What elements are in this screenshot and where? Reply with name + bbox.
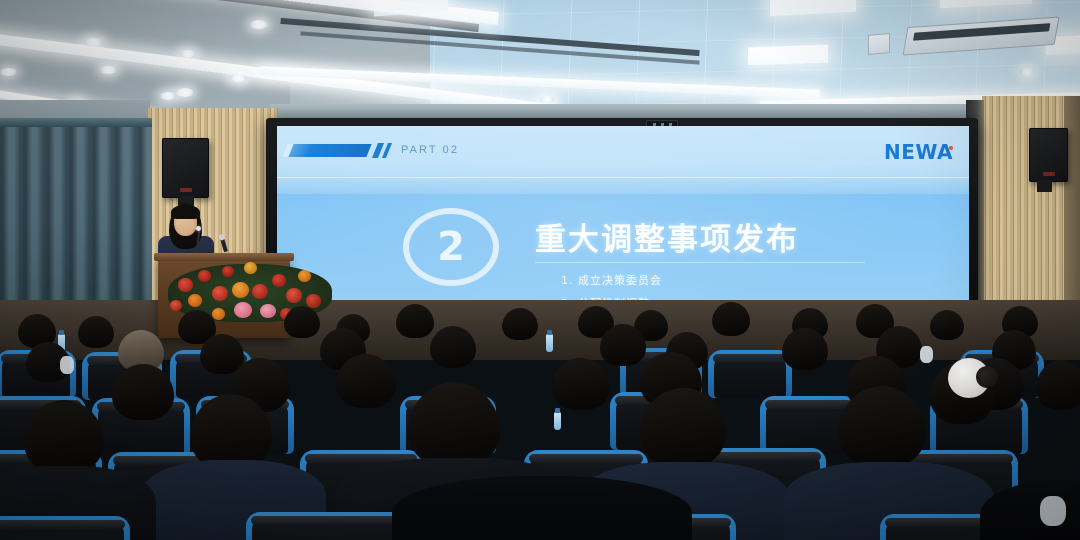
- foreground-attendee: [392, 476, 692, 540]
- auditorium-seat[interactable]: [708, 350, 792, 398]
- ceiling-downlight: [160, 92, 176, 100]
- ceiling-downlight: [230, 74, 247, 82]
- audience-head: [430, 326, 476, 368]
- ceiling-downlight: [180, 50, 196, 58]
- audience-head: [396, 304, 434, 338]
- logo-dot-icon: [949, 146, 953, 150]
- audience-head: [640, 388, 726, 468]
- presenter-hair-fringe: [171, 205, 200, 219]
- flower-red: [222, 266, 234, 277]
- flower-red: [272, 274, 286, 287]
- hair-accessory-dark: [976, 366, 998, 388]
- ceiling-downlight: [0, 68, 17, 76]
- conference-hall-scene: PART 02 NEWA 2 重大调整事项发布 1. 成立决策委员会 2. 分配…: [0, 0, 1080, 540]
- face-mask: [920, 346, 933, 363]
- auditorium-seat[interactable]: [0, 516, 130, 540]
- flower-red: [198, 270, 211, 282]
- presentation-slide: PART 02 NEWA 2 重大调整事项发布 1. 成立决策委员会 2. 分配…: [277, 126, 969, 322]
- speaker-badge: [180, 188, 192, 192]
- title-divider: [535, 262, 865, 263]
- audience-head: [552, 358, 610, 410]
- flower-red: [212, 286, 228, 301]
- audience-head: [930, 310, 964, 340]
- right-wall-speaker: [1029, 128, 1068, 182]
- ceiling-downlight: [1020, 68, 1035, 76]
- audience-head: [838, 386, 926, 468]
- projection-screen: PART 02 NEWA 2 重大调整事项发布 1. 成立决策委员会 2. 分配…: [277, 126, 969, 322]
- audience-head: [782, 328, 828, 370]
- flower-yellow: [244, 262, 257, 274]
- slide-title: 重大调整事项发布: [535, 214, 799, 259]
- section-number-badge: 2: [403, 208, 499, 286]
- audience-head: [712, 302, 750, 336]
- left-wall-speaker: [162, 138, 209, 198]
- slide-header-band: [277, 126, 969, 178]
- water-bottle: [554, 412, 561, 430]
- ceiling-access-panel: [868, 33, 890, 55]
- flower-red: [252, 284, 268, 299]
- speaker-badge: [1043, 172, 1055, 176]
- face-mask: [1040, 496, 1066, 526]
- audience-head: [502, 308, 538, 340]
- flower-orange: [298, 270, 311, 282]
- audience-head: [408, 382, 500, 468]
- water-bottle: [546, 334, 553, 352]
- ceiling-downlight: [84, 38, 103, 47]
- ceiling-downlight: [250, 20, 268, 29]
- audience-head: [336, 354, 396, 408]
- part-accent-bar: [288, 144, 371, 157]
- audience-head: [600, 324, 646, 366]
- flower-orange: [232, 282, 249, 298]
- ceiling-panel-light: [748, 45, 828, 66]
- ceiling-downlight: [176, 88, 194, 97]
- curtain-rail: [0, 118, 152, 127]
- audience-head: [112, 364, 174, 420]
- audience-head: [1036, 360, 1080, 410]
- audience-head: [78, 316, 114, 348]
- audience-area: [0, 300, 1080, 540]
- flower-red: [178, 278, 193, 292]
- ceiling-downlight: [540, 96, 554, 103]
- slide-header-subband: [277, 178, 969, 194]
- ceiling-downlight: [100, 66, 117, 74]
- microphone-icon: [196, 226, 201, 231]
- list-item: 1. 成立决策委员会: [561, 272, 662, 288]
- newa-logo: NEWA: [884, 140, 953, 164]
- right-speaker-mount: [1037, 180, 1052, 192]
- audience-head: [284, 306, 320, 338]
- part-label: PART 02: [401, 144, 459, 156]
- face-mask: [60, 356, 74, 374]
- vent-louver: [913, 23, 1050, 41]
